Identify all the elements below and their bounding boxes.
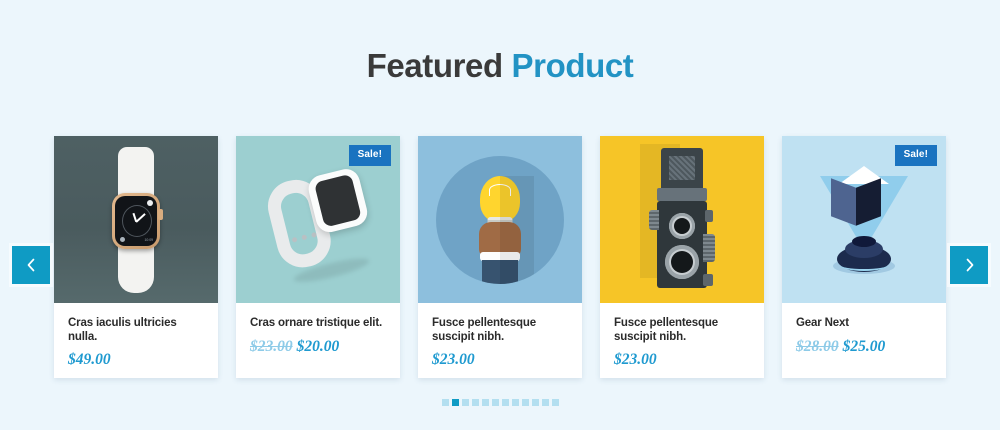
product-card[interactable]: Sale! Gear Next $28.00$25.00	[782, 136, 946, 378]
page-title-part-2: Product	[512, 47, 634, 84]
pagination-dot[interactable]	[452, 399, 459, 406]
pagination-dot[interactable]	[492, 399, 499, 406]
smartwatch-illustration	[254, 154, 382, 286]
pagination-dot[interactable]	[542, 399, 549, 406]
pagination-dot[interactable]	[532, 399, 539, 406]
chevron-left-icon	[25, 257, 38, 273]
product-card[interactable]: Sale! Cras ornare tristique elit. $23.00…	[236, 136, 400, 378]
product-info: Cras iaculis ultricies nulla. $49.00	[54, 303, 218, 378]
product-price-current: $49.00	[68, 351, 111, 368]
product-price-current: $25.00	[843, 338, 886, 355]
product-card[interactable]: 10:09 Cras iaculis ultricies nulla. $49.…	[54, 136, 218, 378]
pagination-dot[interactable]	[512, 399, 519, 406]
sale-badge: Sale!	[895, 145, 937, 166]
carousel-next-button[interactable]	[950, 246, 988, 284]
product-price: $23.00	[432, 351, 568, 369]
pagination-dot[interactable]	[502, 399, 509, 406]
product-image[interactable]	[600, 136, 764, 303]
product-image[interactable]: Sale!	[236, 136, 400, 303]
product-price: $23.00	[614, 351, 750, 369]
product-price-current: $23.00	[432, 351, 475, 368]
carousel-prev-button[interactable]	[12, 246, 50, 284]
product-price: $23.00$20.00	[250, 338, 386, 356]
pagination-dot[interactable]	[472, 399, 479, 406]
product-image[interactable]: 10:09	[54, 136, 218, 303]
product-title: Gear Next	[796, 317, 932, 331]
page-title-part-1: Featured	[367, 47, 512, 84]
product-card[interactable]: Fusce pellentesque suscipit nibh. $23.00	[418, 136, 582, 378]
carousel-pagination	[0, 399, 1000, 406]
product-price-original: $28.00	[796, 338, 839, 355]
product-info: Cras ornare tristique elit. $23.00$20.00	[236, 303, 400, 378]
product-card[interactable]: Fusce pellentesque suscipit nibh. $23.00	[600, 136, 764, 378]
product-price: $49.00	[68, 351, 204, 369]
product-title: Fusce pellentesque suscipit nibh.	[614, 317, 750, 344]
pagination-dot[interactable]	[482, 399, 489, 406]
pagination-dot[interactable]	[462, 399, 469, 406]
hologram-illustration	[809, 154, 919, 286]
product-info: Fusce pellentesque suscipit nibh. $23.00	[600, 303, 764, 378]
camera-illustration	[649, 148, 715, 292]
featured-product-carousel: 10:09 Cras iaculis ultricies nulla. $49.…	[54, 136, 946, 380]
sale-badge: Sale!	[349, 145, 391, 166]
product-title: Cras ornare tristique elit.	[250, 317, 386, 331]
product-info: Gear Next $28.00$25.00	[782, 303, 946, 378]
product-image[interactable]: Sale!	[782, 136, 946, 303]
pagination-dot[interactable]	[522, 399, 529, 406]
product-info: Fusce pellentesque suscipit nibh. $23.00	[418, 303, 582, 378]
product-title: Fusce pellentesque suscipit nibh.	[432, 317, 568, 344]
chevron-right-icon	[963, 257, 976, 273]
pagination-dot[interactable]	[552, 399, 559, 406]
product-price: $28.00$25.00	[796, 338, 932, 356]
product-price-current: $20.00	[297, 338, 340, 355]
product-price-original: $23.00	[250, 338, 293, 355]
product-image[interactable]	[418, 136, 582, 303]
product-price-current: $23.00	[614, 351, 657, 368]
pagination-dot[interactable]	[442, 399, 449, 406]
lightbulb-illustration	[436, 156, 564, 284]
page-title: Featured Product	[0, 44, 1000, 88]
product-title: Cras iaculis ultricies nulla.	[68, 317, 204, 344]
apple-watch-illustration: 10:09	[104, 147, 168, 293]
